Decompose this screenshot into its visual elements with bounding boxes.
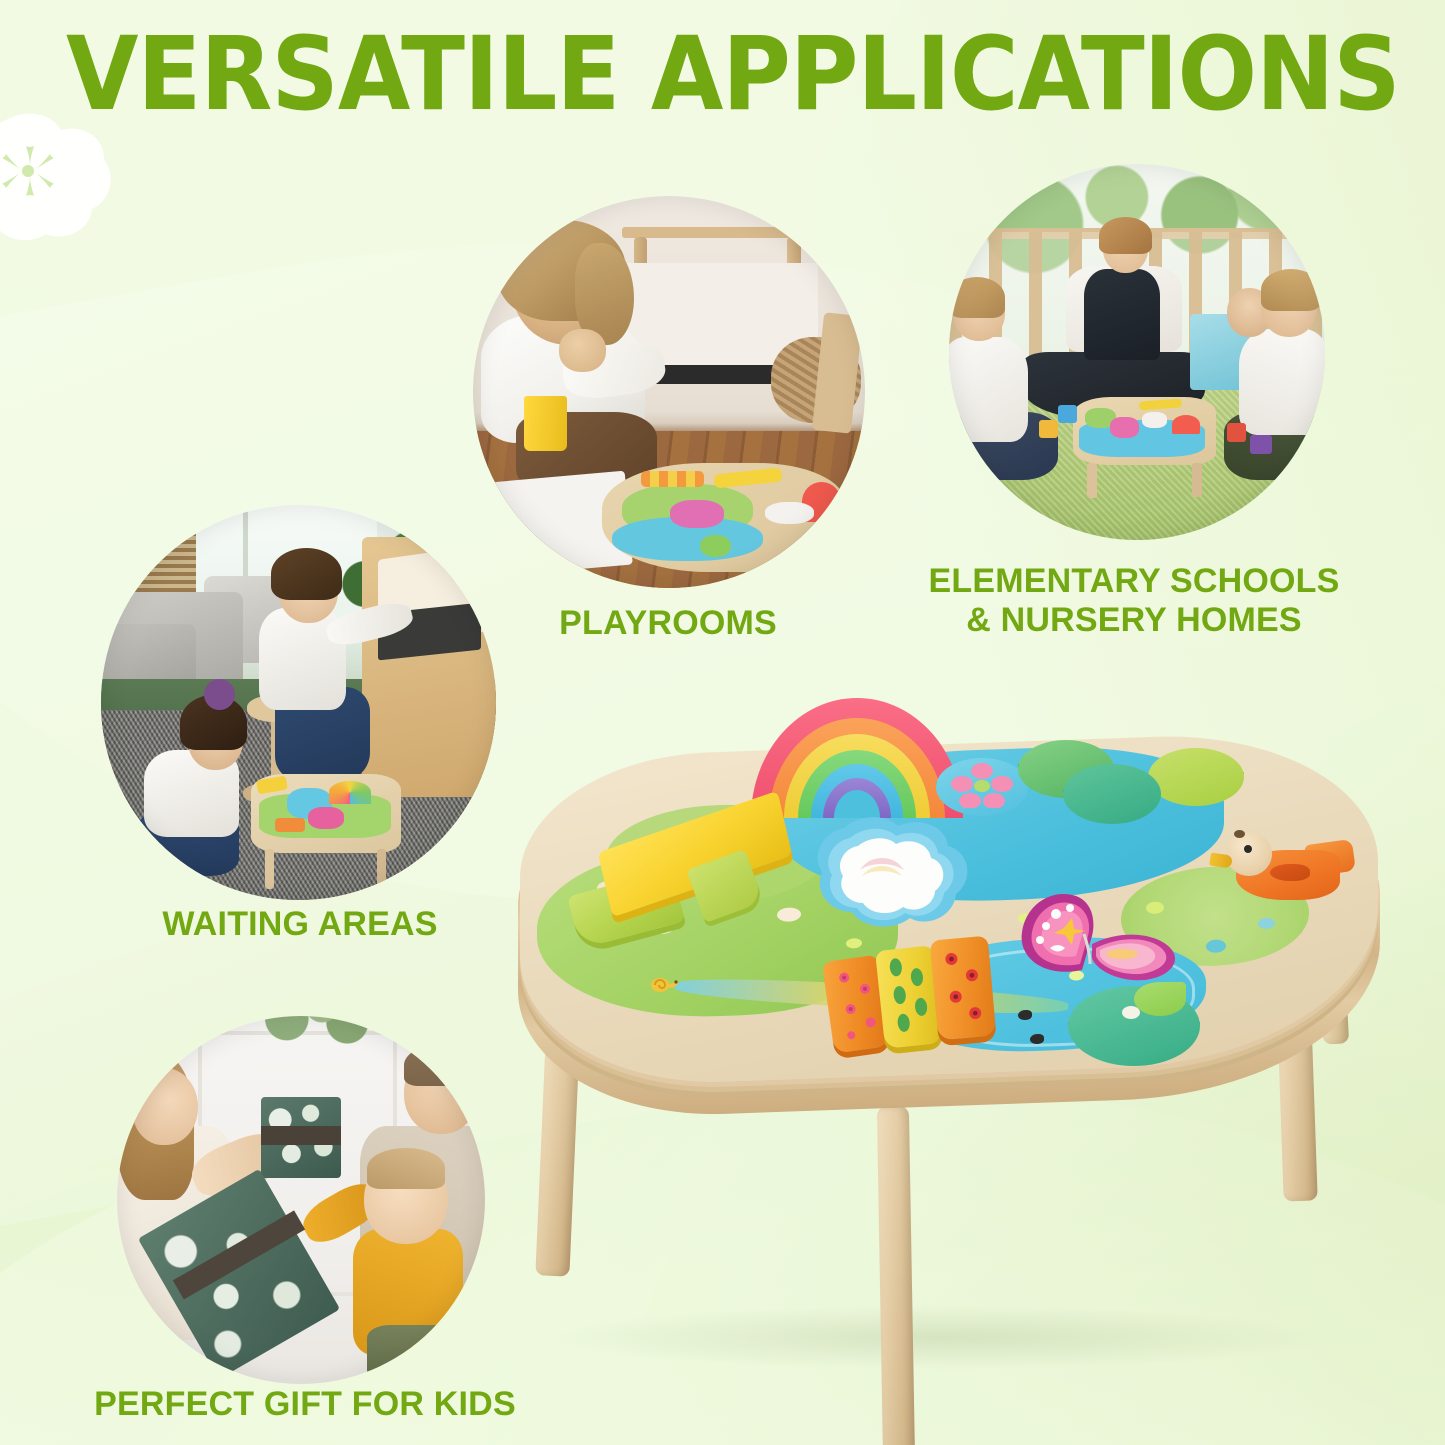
toy-block xyxy=(1250,435,1273,454)
playroom-scene xyxy=(473,196,865,588)
caption-elementary-schools: ELEMENTARY SCHOOLS & NURSERY HOMES xyxy=(899,562,1369,640)
window-blind xyxy=(117,521,196,600)
baby-pants xyxy=(367,1325,470,1384)
product-activity-table xyxy=(498,686,1398,1406)
lily-pad-spinner-3[interactable] xyxy=(1148,748,1244,806)
activity-table-small xyxy=(1073,397,1216,465)
butterfly-spinner-toy[interactable] xyxy=(996,874,1196,994)
boy-body xyxy=(1239,329,1325,434)
photo-waiting-areas xyxy=(101,505,496,900)
mother-head xyxy=(132,1068,198,1145)
snail-artwork xyxy=(646,972,680,992)
baby-hair xyxy=(367,1148,444,1188)
greenery-wreath xyxy=(249,1016,374,1045)
toy-block xyxy=(1227,423,1246,442)
photo-perfect-gift xyxy=(117,1016,485,1384)
toy-block xyxy=(1058,405,1077,424)
yellow-cup xyxy=(524,396,567,451)
table-leg-front xyxy=(877,1106,915,1445)
pink-flower-artwork xyxy=(950,762,1014,808)
caption-perfect-gift: PERFECT GIFT FOR KIDS xyxy=(55,1385,555,1424)
classroom-scene xyxy=(949,164,1325,540)
caption-waiting-areas: WAITING AREAS xyxy=(110,905,490,944)
tadpole-artwork xyxy=(1018,1010,1032,1020)
photo-elementary-schools xyxy=(949,164,1325,540)
standing-child-hair xyxy=(271,548,342,599)
girl-body xyxy=(949,337,1028,442)
rainbow-arch-toy[interactable] xyxy=(751,698,963,818)
activity-table-small xyxy=(251,774,401,853)
roller-sunflower-pattern xyxy=(936,942,991,1034)
lily-flower-artwork xyxy=(1122,1006,1140,1019)
toy-block xyxy=(1039,420,1058,439)
lily-leaf-artwork xyxy=(1134,982,1186,1016)
lily-pad-spinner-2[interactable] xyxy=(1063,764,1161,824)
teacher-hair xyxy=(1099,217,1152,255)
teacher-pinafore xyxy=(1084,269,1159,359)
page-title: VERSATILE APPLICATIONS xyxy=(66,24,1400,126)
waiting-area-scene xyxy=(101,505,496,900)
photo-playrooms xyxy=(473,196,865,588)
roller-leaf-pattern xyxy=(882,952,939,1043)
father-hair xyxy=(404,1045,474,1085)
boy-hair xyxy=(1261,269,1321,310)
wooden-bird-toy[interactable] xyxy=(1210,828,1350,920)
tadpole-artwork xyxy=(1030,1034,1044,1044)
gift-scene xyxy=(117,1016,485,1384)
caption-playrooms: PLAYROOMS xyxy=(508,604,828,643)
product-shadow xyxy=(552,1305,1326,1370)
activity-table-small xyxy=(602,463,845,573)
cloud-mirror-toy[interactable] xyxy=(798,814,982,932)
girl-hair xyxy=(949,277,1005,318)
infographic-canvas: VERSATILE APPLICATIONS xyxy=(0,0,1445,1445)
toddler-hand xyxy=(559,329,606,372)
